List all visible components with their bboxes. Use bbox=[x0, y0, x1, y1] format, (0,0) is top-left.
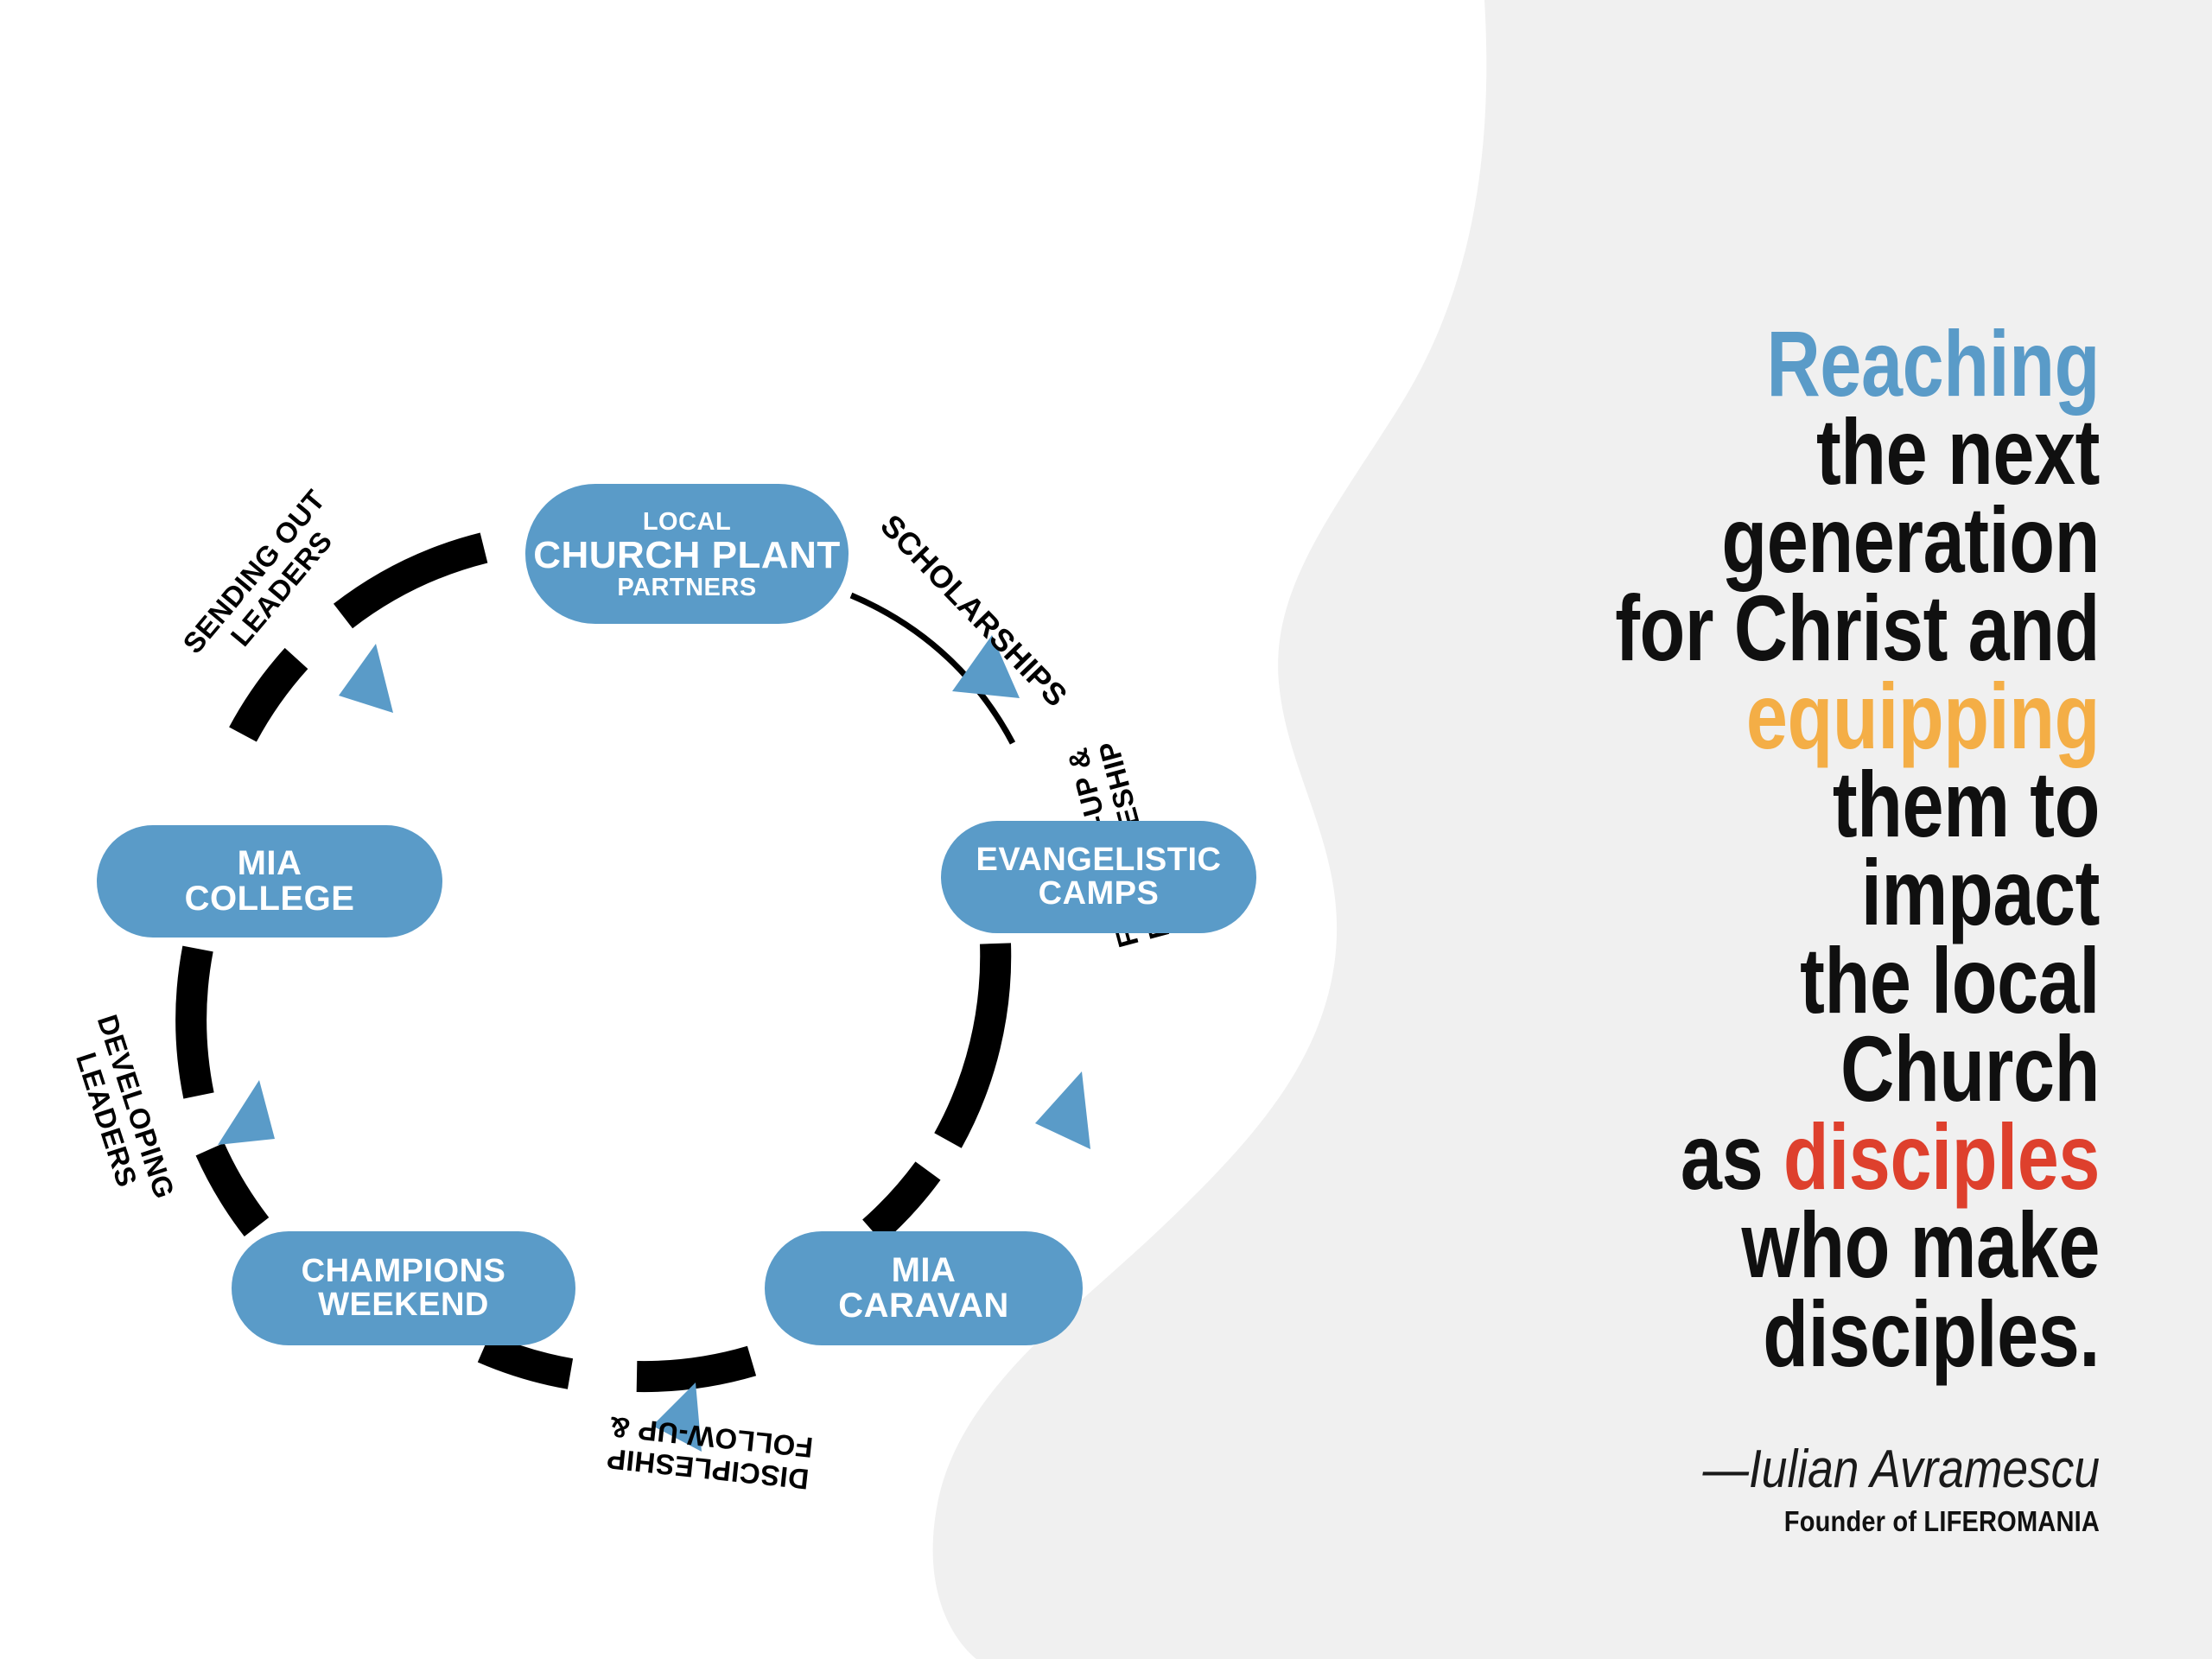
node-champions-weekend[interactable]: CHAMPIONS WEEKEND bbox=[232, 1231, 575, 1345]
quote-line-2: the next bbox=[1395, 408, 2100, 496]
arc-college-to-church-b bbox=[343, 548, 484, 616]
attribution-author-name: —Iulian Avramescu bbox=[1342, 1439, 2100, 1500]
attribution-block: —Iulian Avramescu Founder of LIFEROMANIA bbox=[1218, 1439, 2100, 1538]
attribution-author-role: Founder of LIFEROMANIA bbox=[1324, 1505, 2100, 1538]
node-local-church-plant-partners[interactable]: LOCAL CHURCH PLANT PARTNERS bbox=[525, 484, 849, 624]
node-line-2: CAMPS bbox=[1039, 877, 1160, 911]
quote-line-4: for Christ and bbox=[1395, 584, 2100, 672]
node-line-2: CHURCH PLANT bbox=[533, 536, 841, 575]
quote-line-3: generation bbox=[1395, 496, 2100, 584]
slide-canvas: LOCAL CHURCH PLANT PARTNERS EVANGELISTIC… bbox=[0, 0, 2212, 1659]
quote-line-7: impact bbox=[1395, 849, 2100, 937]
node-line-1: EVANGELISTIC bbox=[976, 843, 1222, 877]
quote-line-1: Reaching bbox=[1395, 320, 2100, 408]
quote-panel: Reaching the next generation for Christ … bbox=[1218, 320, 2100, 1538]
node-line-1: LOCAL bbox=[643, 510, 731, 536]
arc-camps-to-caravan-b bbox=[873, 1171, 928, 1231]
quote-line-12: disciples. bbox=[1395, 1290, 2100, 1378]
quote-line-6: them to bbox=[1395, 760, 2100, 849]
node-line-3: PARTNERS bbox=[617, 575, 756, 601]
arc-champions-to-college-b bbox=[191, 949, 199, 1096]
quote-line-8: the local bbox=[1395, 937, 2100, 1025]
node-line-1: MIA bbox=[238, 846, 302, 881]
arrowhead-followup-right bbox=[1035, 1071, 1090, 1149]
arc-champions-to-college-a bbox=[210, 1149, 257, 1227]
connector-label-scholarships: SCHOLARSHIPS bbox=[899, 508, 1210, 543]
arc-caravan-to-champions-a bbox=[637, 1361, 752, 1376]
node-line-2: WEEKEND bbox=[318, 1288, 489, 1322]
node-mia-caravan[interactable]: MIA CARAVAN bbox=[765, 1231, 1083, 1345]
arc-caravan-to-champions-b bbox=[484, 1348, 570, 1374]
quote-line-5: equipping bbox=[1395, 672, 2100, 760]
node-line-2: CARAVAN bbox=[838, 1288, 1009, 1324]
process-cycle-diagram: LOCAL CHURCH PLANT PARTNERS EVANGELISTIC… bbox=[0, 0, 1348, 1659]
quote-line-9: Church bbox=[1395, 1025, 2100, 1113]
node-evangelistic-camps[interactable]: EVANGELISTIC CAMPS bbox=[941, 821, 1256, 933]
node-line-2: COLLEGE bbox=[185, 881, 355, 917]
arrowhead-developing-leaders bbox=[218, 1080, 275, 1145]
node-line-1: MIA bbox=[892, 1253, 957, 1288]
arc-camps-to-caravan-a bbox=[948, 944, 995, 1141]
node-mia-college[interactable]: MIA COLLEGE bbox=[97, 825, 442, 938]
quote-line-11: who make bbox=[1395, 1201, 2100, 1289]
quote-line-10: as disciples bbox=[1395, 1113, 2100, 1201]
arrowhead-sending-out-leaders bbox=[339, 644, 393, 713]
node-line-1: CHAMPIONS bbox=[302, 1255, 506, 1288]
quote-text-block: Reaching the next generation for Christ … bbox=[1395, 320, 2100, 1378]
arc-college-to-church-a bbox=[243, 658, 296, 734]
